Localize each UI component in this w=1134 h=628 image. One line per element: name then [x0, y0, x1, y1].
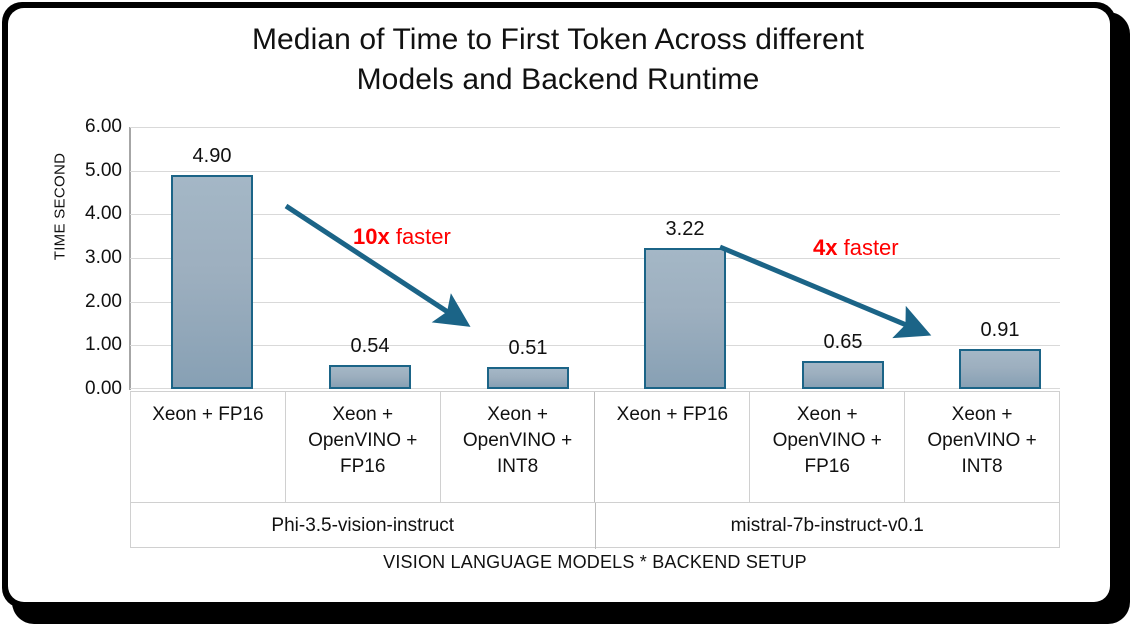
chart-title-line-1: Median of Time to First Token Across dif…	[68, 20, 1048, 60]
y-tick-label: 4.00	[60, 203, 122, 225]
chart-canvas: Median of Time to First Token Across dif…	[8, 8, 1110, 602]
y-tick-label: 2.00	[60, 291, 122, 313]
x-axis-category-label: Xeon + OpenVINO + INT8	[905, 392, 1059, 502]
y-tick-label: 1.00	[60, 334, 122, 356]
x-axis-label-table: Xeon + FP16 Xeon + OpenVINO + FP16 Xeon …	[130, 391, 1060, 548]
gridline	[130, 345, 1060, 346]
annotation-4x-faster: 4x faster	[813, 235, 899, 261]
frame-border: Median of Time to First Token Across dif…	[2, 2, 1116, 608]
bar[interactable]	[171, 175, 253, 389]
y-tick-label: 6.00	[60, 116, 122, 138]
x-axis-category-label: Xeon + FP16	[131, 392, 286, 502]
y-tick-label: 3.00	[60, 247, 122, 269]
bar-value-label: 0.54	[351, 335, 390, 358]
x-axis-title: VISION LANGUAGE MODELS * BACKEND SETUP	[130, 552, 1060, 573]
chart-title: Median of Time to First Token Across dif…	[68, 20, 1048, 100]
annotation-4x-rest: faster	[837, 235, 898, 260]
x-axis-category-label: Xeon + OpenVINO + FP16	[750, 392, 905, 502]
gridline	[130, 214, 1060, 215]
x-axis-category-label: Xeon + OpenVINO + FP16	[286, 392, 441, 502]
x-axis-category-label: Xeon + OpenVINO + INT8	[441, 392, 596, 502]
x-axis-category-row: Xeon + FP16 Xeon + OpenVINO + FP16 Xeon …	[131, 392, 1059, 502]
bar[interactable]	[644, 248, 726, 389]
annotation-10x-faster: 10x faster	[353, 224, 451, 250]
y-tick-label: 5.00	[60, 160, 122, 182]
gridline	[130, 388, 1060, 389]
gridline	[130, 127, 1060, 128]
bar-value-label: 0.51	[509, 337, 548, 360]
x-axis-category-label: Xeon + FP16	[595, 392, 750, 502]
bar[interactable]	[487, 367, 569, 389]
gridline	[130, 171, 1060, 172]
x-axis-group-label: mistral-7b-instruct-v0.1	[596, 503, 1060, 549]
bar-value-label: 3.22	[666, 218, 705, 241]
annotation-4x-bold: 4x	[813, 235, 837, 260]
y-tick-label: 0.00	[60, 378, 122, 400]
annotation-10x-rest: faster	[390, 224, 451, 249]
plot-area	[130, 127, 1060, 389]
bar[interactable]	[802, 361, 884, 389]
chart-frame-inner: Median of Time to First Token Across dif…	[8, 8, 1110, 602]
x-axis-group-label: Phi-3.5-vision-instruct	[131, 503, 596, 549]
x-axis-group-row: Phi-3.5-vision-instruct mistral-7b-instr…	[131, 502, 1059, 549]
chart-screenshot: Median of Time to First Token Across dif…	[0, 0, 1134, 628]
bar-value-label: 0.65	[824, 331, 863, 354]
gridline	[130, 302, 1060, 303]
bar-value-label: 0.91	[981, 319, 1020, 342]
chart-title-line-2: Models and Backend Runtime	[68, 60, 1048, 100]
y-axis-tick-labels: 6.00 5.00 4.00 3.00 2.00 1.00 0.00	[60, 127, 122, 389]
annotation-10x-bold: 10x	[353, 224, 390, 249]
bar[interactable]	[959, 349, 1041, 389]
bar[interactable]	[329, 365, 411, 389]
bar-value-label: 4.90	[193, 145, 232, 168]
gridline	[130, 258, 1060, 259]
